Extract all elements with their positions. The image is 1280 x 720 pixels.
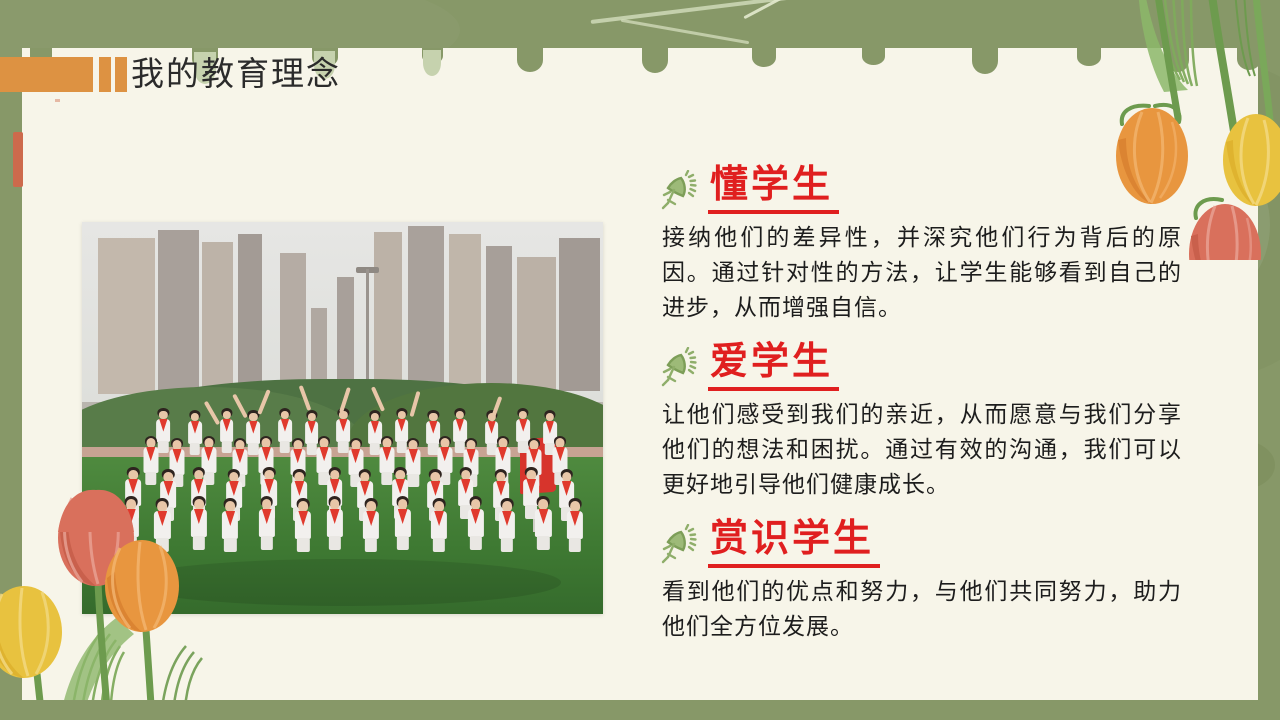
photo-building — [374, 232, 403, 393]
section-title: 懂学生 — [708, 163, 839, 214]
section-header: 爱学生 — [652, 337, 1212, 391]
photo-building — [280, 253, 306, 390]
photo-student — [259, 496, 275, 549]
tulip-cluster-top-right — [1060, 0, 1280, 260]
torn-edge-drip — [972, 48, 998, 74]
photo-student — [467, 496, 483, 549]
torn-edge-drip — [862, 48, 885, 65]
megaphone-icon — [652, 347, 698, 393]
photo-student — [327, 496, 343, 549]
tulip-cluster-bottom-left — [0, 420, 260, 720]
photo-building — [517, 257, 556, 390]
photo-building — [559, 238, 601, 391]
slide-root: 我的教育理念 — [0, 0, 1280, 720]
decorative-micro-dot — [55, 99, 60, 102]
title-accent-tick-2 — [115, 57, 127, 92]
photo-student — [499, 498, 515, 551]
photo-student — [535, 496, 551, 549]
bottom-green-strip — [0, 700, 1280, 720]
page-title: 我的教育理念 — [131, 52, 341, 96]
tulip-red — [1189, 199, 1261, 260]
torn-edge-drip — [752, 48, 776, 67]
tulip-stem — [1256, 0, 1270, 120]
section-appreciate-students: 赏识学生 看到他们的优点和努力，与他们共同努力，助力他们全方位发展。 — [652, 514, 1212, 644]
section-title: 赏识学生 — [708, 517, 880, 568]
torn-edge-drip-light — [423, 50, 441, 76]
photo-light-pole — [366, 269, 369, 394]
title-accent-tick-1 — [99, 57, 111, 92]
photo-building — [98, 238, 155, 395]
torn-edge-drip — [517, 48, 543, 72]
section-body-text: 看到他们的优点和努力，与他们共同努力，助力他们全方位发展。 — [652, 574, 1182, 644]
megaphone-icon — [652, 170, 698, 216]
tulip-orange — [105, 540, 179, 632]
photo-student — [395, 496, 411, 549]
title-accent-bar — [0, 57, 93, 92]
photo-building — [449, 234, 480, 391]
section-body-text: 让他们感受到我们的亲近，从而愿意与我们分享他们的想法和困扰。通过有效的沟通，我们… — [652, 397, 1182, 502]
photo-building — [337, 277, 354, 391]
section-love-students: 爱学生 让他们感受到我们的亲近，从而愿意与我们分享他们的想法和困扰。通过有效的沟… — [652, 337, 1212, 502]
torn-edge-drip — [642, 48, 668, 73]
photo-building — [202, 242, 233, 395]
tulip-yellow — [0, 586, 62, 678]
photo-building — [158, 230, 200, 395]
photo-building — [408, 226, 444, 391]
photo-student — [295, 498, 311, 551]
photo-building — [238, 234, 261, 391]
section-title: 爱学生 — [708, 340, 839, 391]
photo-student — [363, 498, 379, 551]
section-header: 赏识学生 — [652, 514, 1212, 568]
left-red-accent-chip — [13, 132, 23, 187]
photo-building — [486, 246, 512, 391]
photo-student — [431, 498, 447, 551]
photo-student — [567, 498, 583, 551]
megaphone-icon — [652, 524, 698, 570]
